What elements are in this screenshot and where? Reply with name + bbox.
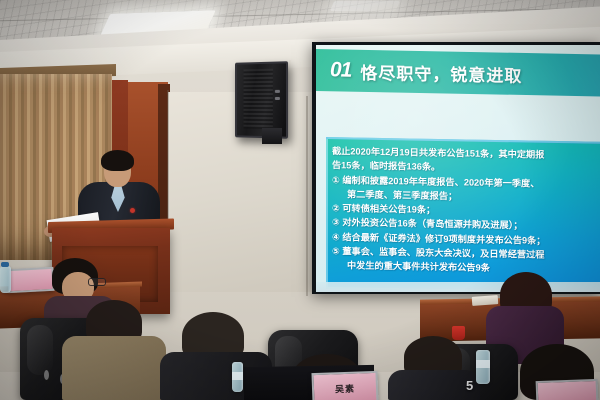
speaker-indicator-icon [275, 90, 280, 93]
slide-number: 01 [330, 58, 351, 82]
slide-title: 恪尽职守，锐意进取 [360, 58, 522, 86]
placard-label: 吴素 [335, 381, 355, 395]
chair-highlight [27, 325, 53, 376]
bottle-cap [1, 262, 9, 267]
bottle-label [232, 372, 243, 380]
presenter-hair [101, 150, 134, 171]
speaker-mount-bracket [262, 128, 282, 144]
projection-screen: 01 恪尽职守，锐意进取 截止2020年12月19日共发布公告151条，其中定期… [316, 45, 600, 292]
speaker-indicator-icon [275, 97, 280, 100]
lapel-pin-icon [130, 208, 135, 213]
name-placard [7, 267, 54, 293]
seat-number: 5 [466, 378, 473, 393]
screen-bottom-edge [316, 282, 600, 292]
slide-body-box: 截止2020年12月19日共发布公告151条，其中定期报 告15条，临时报告13… [326, 137, 600, 292]
name-placard [536, 379, 599, 400]
chair-stud-icon [44, 370, 49, 380]
attendee-body [62, 336, 166, 400]
name-placard: 吴素 [311, 371, 378, 400]
slide-header-band: 01 恪尽职守，锐意进取 [316, 49, 600, 97]
wall-seam [306, 96, 308, 296]
ceiling-panel-light [330, 1, 400, 11]
red-cup [452, 326, 465, 340]
eyeglasses-icon [88, 278, 106, 286]
bottle-label [476, 360, 490, 368]
speaker-grille-icon [244, 69, 273, 130]
notebook [472, 295, 499, 306]
projection-screen-frame: 01 恪尽职守，锐意进取 截止2020年12月19日共发布公告151条，其中定期… [312, 42, 600, 294]
conference-room-photo: 01 恪尽职守，锐意进取 截止2020年12月19日共发布公告151条，其中定期… [0, 0, 600, 400]
water-bottle [0, 266, 11, 293]
